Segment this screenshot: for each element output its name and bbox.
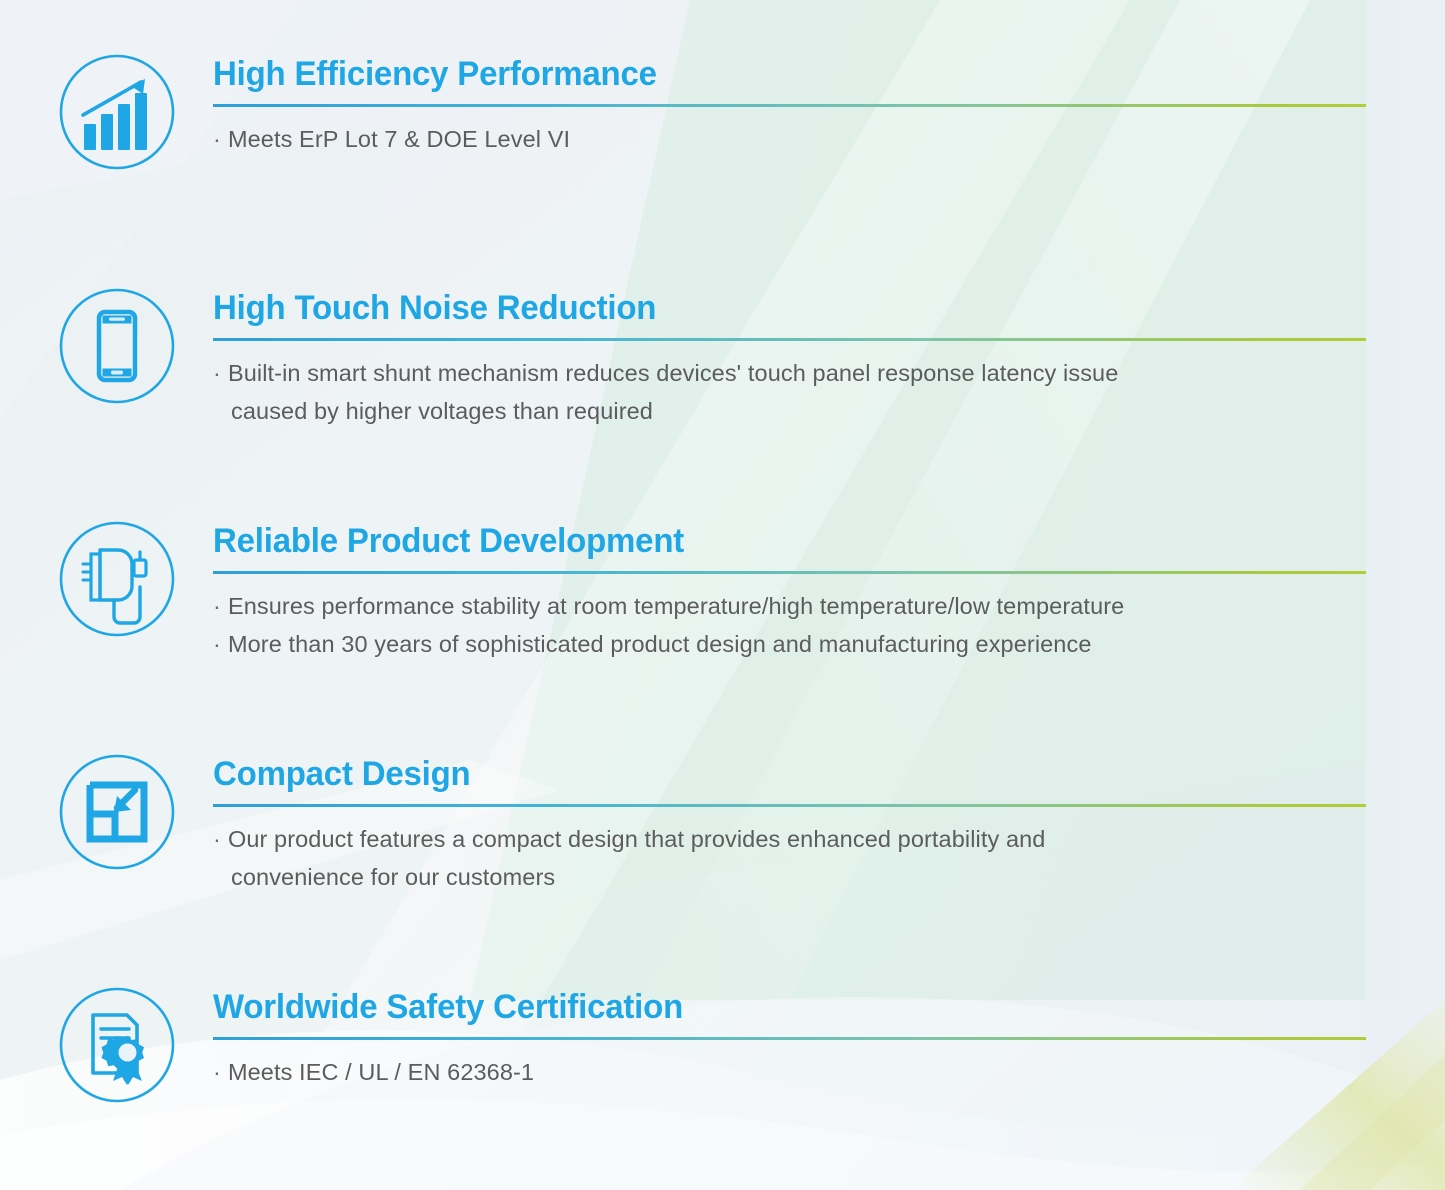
feature-divider — [213, 1037, 1366, 1040]
feature-line-text: More than 30 years of sophisticated prod… — [228, 631, 1092, 657]
feature-body: Worldwide Safety Certification ·Meets IE… — [213, 985, 1445, 1091]
feature-body: Compact Design ·Our product features a c… — [213, 752, 1445, 896]
feature-body: Reliable Product Development ·Ensures pe… — [213, 519, 1445, 663]
feature-lines: ·Our product features a compact design t… — [213, 820, 1445, 896]
feature-line: ·More than 30 years of sophisticated pro… — [213, 625, 1445, 663]
feature-lines: ·Built-in smart shunt mechanism reduces … — [213, 354, 1445, 430]
feature-item-compact-design: Compact Design ·Our product features a c… — [0, 752, 1445, 896]
feature-title: Worldwide Safety Certification — [213, 987, 1408, 1027]
feature-line-continuation: convenience for our customers — [213, 858, 1373, 896]
feature-list: High Efficiency Performance ·Meets ErP L… — [0, 0, 1445, 1190]
feature-line: ·Built-in smart shunt mechanism reduces … — [213, 354, 1373, 430]
feature-title: High Touch Noise Reduction — [213, 288, 1408, 328]
feature-item-high-touch-noise-reduction: High Touch Noise Reduction ·Built-in sma… — [0, 286, 1445, 430]
feature-line-text: Meets ErP Lot 7 & DOE Level VI — [228, 126, 570, 152]
feature-lines: ·Meets IEC / UL / EN 62368-1 — [213, 1053, 1445, 1091]
feature-body: High Touch Noise Reduction ·Built-in sma… — [213, 286, 1445, 430]
feature-line: ·Meets IEC / UL / EN 62368-1 — [213, 1053, 1445, 1091]
certificate-seal-icon — [57, 985, 177, 1105]
feature-line-text: Built-in smart shunt mechanism reduces d… — [228, 360, 1118, 386]
feature-body: High Efficiency Performance ·Meets ErP L… — [213, 52, 1445, 158]
feature-divider — [213, 804, 1366, 807]
bullet-marker: · — [213, 631, 221, 657]
feature-line: ·Ensures performance stability at room t… — [213, 587, 1445, 625]
compact-resize-icon — [57, 752, 177, 872]
bullet-marker: · — [213, 593, 221, 619]
feature-divider — [213, 104, 1366, 107]
bar-chart-growth-icon — [57, 52, 177, 172]
feature-line-text: Meets IEC / UL / EN 62368-1 — [228, 1059, 534, 1085]
feature-line-continuation: caused by higher voltages than required — [213, 392, 1373, 430]
feature-line: ·Our product features a compact design t… — [213, 820, 1373, 896]
feature-divider — [213, 338, 1366, 341]
feature-line-text: Ensures performance stability at room te… — [228, 593, 1124, 619]
bullet-marker: · — [213, 1059, 221, 1085]
feature-line-text: Our product features a compact design th… — [228, 826, 1046, 852]
feature-item-reliable-product-development: Reliable Product Development ·Ensures pe… — [0, 519, 1445, 663]
feature-line: ·Meets ErP Lot 7 & DOE Level VI — [213, 120, 1445, 158]
feature-lines: ·Ensures performance stability at room t… — [213, 587, 1445, 663]
bullet-marker: · — [213, 826, 221, 852]
feature-title: Compact Design — [213, 754, 1408, 794]
feature-item-high-efficiency-performance: High Efficiency Performance ·Meets ErP L… — [0, 52, 1445, 172]
feature-lines: ·Meets ErP Lot 7 & DOE Level VI — [213, 120, 1445, 158]
feature-title: Reliable Product Development — [213, 521, 1408, 561]
feature-title: High Efficiency Performance — [213, 54, 1408, 94]
bullet-marker: · — [213, 126, 221, 152]
feature-item-worldwide-safety-certification: Worldwide Safety Certification ·Meets IE… — [0, 985, 1445, 1105]
power-adapter-icon — [57, 519, 177, 639]
bullet-marker: · — [213, 360, 221, 386]
smartphone-icon — [57, 286, 177, 406]
feature-divider — [213, 571, 1366, 574]
